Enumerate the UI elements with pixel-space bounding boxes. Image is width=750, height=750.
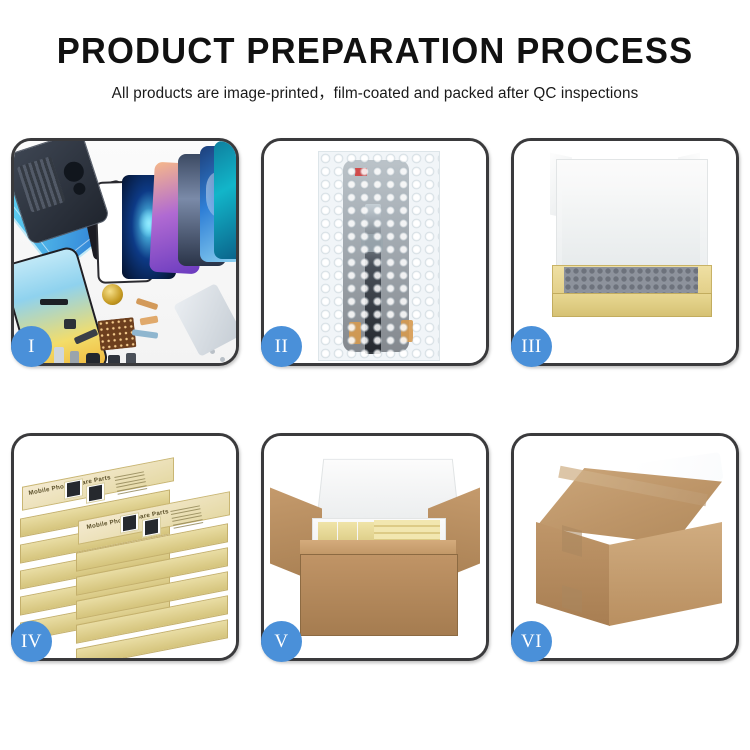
step-panel-6: VI <box>511 433 739 661</box>
screw-icon <box>220 357 225 362</box>
part-strip-icon <box>40 299 68 305</box>
step-panel-5: V <box>261 433 489 661</box>
small-part-icon <box>108 355 120 363</box>
step-panel-1: I <box>11 138 239 366</box>
box-stack: Mobile Phone Spare Parts Mobile Phone Sp… <box>16 458 236 648</box>
steps-grid: I II <box>11 138 739 661</box>
small-part-icon <box>126 353 136 363</box>
page-title: PRODUCT PREPARATION PROCESS <box>15 30 735 72</box>
box-window-icon <box>120 512 139 534</box>
phone-teal-icon <box>214 141 236 259</box>
header: PRODUCT PREPARATION PROCESS All products… <box>0 0 750 103</box>
bubble-bag-icon <box>318 151 440 361</box>
tape-mark-icon <box>562 525 582 557</box>
flex-cable-icon <box>132 329 159 339</box>
page-subtitle: All products are image-printed，film-coat… <box>6 81 745 103</box>
connector-icon <box>361 234 383 252</box>
foam-inner-icon <box>562 187 700 271</box>
step-badge-3: III <box>511 326 552 367</box>
red-label-icon <box>355 168 367 176</box>
flex-cable-icon <box>365 204 381 354</box>
battery-part-icon <box>54 347 64 363</box>
flex-cable-icon <box>140 315 159 325</box>
step-image-6 <box>514 436 736 658</box>
step-image-1 <box>14 141 236 363</box>
connector-grid-icon <box>98 317 137 351</box>
product-preparation-infographic: PRODUCT PREPARATION PROCESS All products… <box>0 0 750 750</box>
box-window-icon <box>64 478 83 500</box>
small-part-icon <box>70 351 79 363</box>
flex-cable-icon <box>136 298 159 311</box>
step-badge-6: VI <box>511 621 552 662</box>
gold-contact-icon <box>349 322 361 344</box>
step-image-3 <box>514 141 736 363</box>
carton-body-icon <box>300 554 458 636</box>
yellow-box-front-icon <box>552 293 712 317</box>
small-part-icon <box>86 353 100 363</box>
step-panel-2: II <box>261 138 489 366</box>
speaker-part-icon <box>102 284 123 305</box>
box-spec-lines <box>114 471 147 497</box>
small-part-icon <box>64 319 76 329</box>
box-window-icon <box>86 482 105 504</box>
step-badge-1: I <box>11 326 52 367</box>
step-panel-4: Mobile Phone Spare Parts Mobile Phone Sp… <box>11 433 239 661</box>
step-image-4: Mobile Phone Spare Parts Mobile Phone Sp… <box>14 436 236 658</box>
gold-contact-icon <box>401 320 413 342</box>
step-badge-2: II <box>261 326 302 367</box>
step-image-5 <box>264 436 486 658</box>
step-image-2 <box>264 141 486 363</box>
box-window-icon <box>142 516 161 538</box>
step-badge-5: V <box>261 621 302 662</box>
step-badge-4: IV <box>11 621 52 662</box>
repair-tool-icon <box>173 283 236 357</box>
step-panel-3: III <box>511 138 739 366</box>
box-spec-lines <box>170 505 203 531</box>
